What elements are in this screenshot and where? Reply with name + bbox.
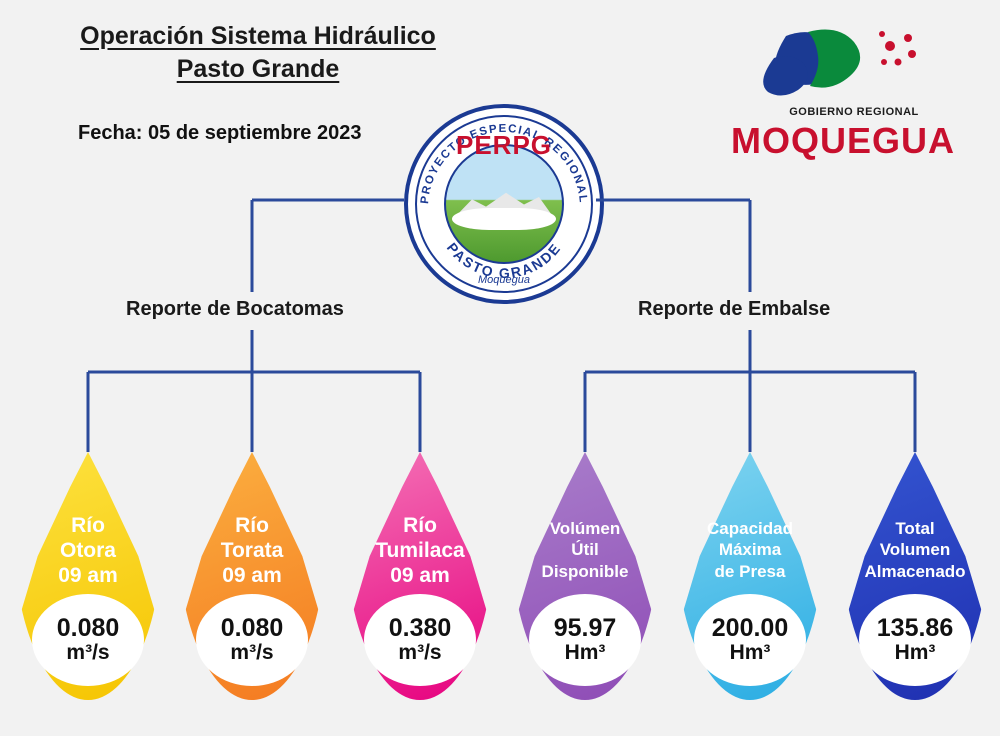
drop-label: Río Torata 09 am bbox=[178, 452, 326, 588]
drop-rio-torata[interactable]: Río Torata 09 am 0.080 m³/s bbox=[178, 452, 326, 700]
drop-label: Volúmen Útil Disponible bbox=[511, 452, 659, 582]
drop-capacidad-maxima[interactable]: Capacidad Máxima de Presa 200.00 Hm³ bbox=[676, 452, 824, 700]
drop-value: 135.86 bbox=[877, 615, 953, 641]
drop-unit: m³/s bbox=[66, 641, 109, 665]
drop-rio-tumilaca[interactable]: Río Tumilaca 09 am 0.380 m³/s bbox=[346, 452, 494, 700]
section-heading-embalse: Reporte de Embalse bbox=[638, 298, 830, 321]
drop-unit: Hm³ bbox=[895, 641, 936, 665]
drop-label: Capacidad Máxima de Presa bbox=[676, 452, 824, 582]
drop-total-volumen[interactable]: Total Volumen Almacenado 135.86 Hm³ bbox=[841, 452, 989, 700]
seal-subtext: Moquegua bbox=[408, 274, 600, 286]
drop-value: 0.380 bbox=[389, 615, 452, 641]
drop-label-line1: Capacidad bbox=[676, 518, 824, 539]
section-heading-bocatomas: Reporte de Bocatomas bbox=[126, 298, 344, 321]
drop-unit: m³/s bbox=[398, 641, 441, 665]
drop-label-line3: Disponible bbox=[511, 561, 659, 582]
drop-value-circle: 0.080 m³/s bbox=[32, 594, 144, 686]
drop-label-line2: Máxima bbox=[676, 539, 824, 560]
drop-label-line2: Tumilaca bbox=[346, 539, 494, 564]
drop-unit: m³/s bbox=[230, 641, 273, 665]
drop-value: 0.080 bbox=[221, 615, 284, 641]
drop-value-circle: 95.97 Hm³ bbox=[529, 594, 641, 686]
drop-label-line1: Volúmen bbox=[511, 518, 659, 539]
drop-label-line1: Río bbox=[346, 514, 494, 539]
drop-unit: Hm³ bbox=[730, 641, 771, 665]
drop-label: Río Tumilaca 09 am bbox=[346, 452, 494, 588]
drop-label-line3: 09 am bbox=[178, 564, 326, 589]
drop-label-line3: Almacenado bbox=[841, 561, 989, 582]
drop-rio-otora[interactable]: Río Otora 09 am 0.080 m³/s bbox=[14, 452, 162, 700]
drop-label-line3: de Presa bbox=[676, 561, 824, 582]
drop-value-circle: 0.380 m³/s bbox=[364, 594, 476, 686]
drop-label-line1: Río bbox=[178, 514, 326, 539]
drop-label-line1: Río bbox=[14, 514, 162, 539]
seal-acronym: PERPG bbox=[408, 130, 600, 161]
drop-value-circle: 135.86 Hm³ bbox=[859, 594, 971, 686]
drop-label-line2: Otora bbox=[14, 539, 162, 564]
drop-label-line2: Volumen bbox=[841, 539, 989, 560]
drop-volumen-util[interactable]: Volúmen Útil Disponible 95.97 Hm³ bbox=[511, 452, 659, 700]
drop-value: 0.080 bbox=[57, 615, 120, 641]
drop-label-line3: 09 am bbox=[14, 564, 162, 589]
drop-label-line3: 09 am bbox=[346, 564, 494, 589]
drop-value: 95.97 bbox=[554, 615, 617, 641]
drop-unit: Hm³ bbox=[565, 641, 606, 665]
drop-label: Total Volumen Almacenado bbox=[841, 452, 989, 582]
drop-value-circle: 0.080 m³/s bbox=[196, 594, 308, 686]
drop-label-line1: Total bbox=[841, 518, 989, 539]
drop-value: 200.00 bbox=[712, 615, 788, 641]
drop-label-line2: Torata bbox=[178, 539, 326, 564]
drop-value-circle: 200.00 Hm³ bbox=[694, 594, 806, 686]
drop-label-line2: Útil bbox=[511, 539, 659, 560]
drop-label: Río Otora 09 am bbox=[14, 452, 162, 588]
